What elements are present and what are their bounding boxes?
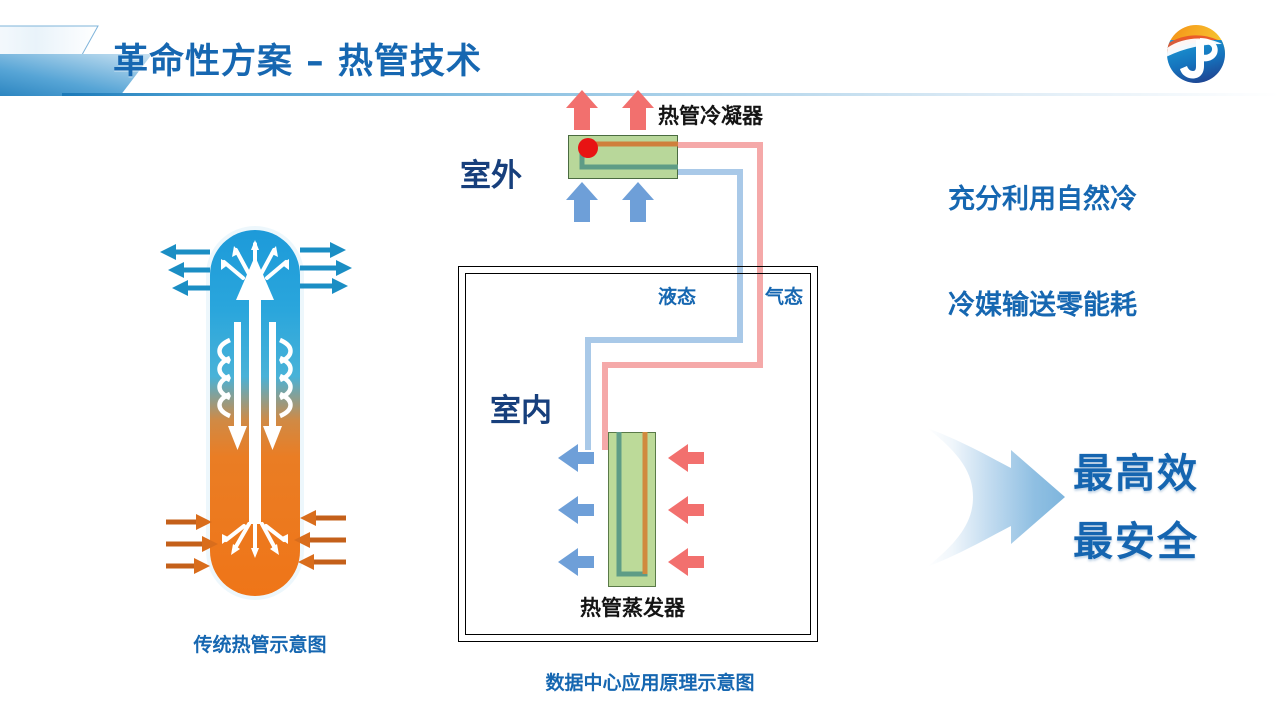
page-title: 革命性方案 – 热管技术 (113, 33, 482, 84)
liquid-phase-label: 液态 (658, 282, 696, 309)
evaporator-label: 热管蒸发器 (545, 592, 720, 622)
outdoor-label: 室外 (460, 150, 522, 195)
indoor-label: 室内 (490, 385, 552, 430)
benefit-text-2: 冷媒输送零能耗 (948, 283, 1137, 322)
center-diagram-caption: 数据中心应用原理示意图 (440, 668, 860, 695)
left-diagram-caption: 传统热管示意图 (110, 630, 410, 657)
room-airflow-arrows (550, 440, 730, 590)
company-logo-icon (1160, 18, 1232, 90)
traditional-heat-pipe-diagram (150, 222, 360, 604)
conclusion-text-2: 最安全 (1073, 509, 1199, 567)
slide-root: 革命性方案 – 热管技术 (0, 0, 1280, 720)
benefit-text-1: 充分利用自然冷 (948, 177, 1137, 216)
condenser-marker-dot (578, 138, 598, 158)
condenser-cool-air-in-arrows (564, 182, 674, 222)
center-diagram: 热管冷凝器 室外 液态 气态 室内 (440, 90, 860, 660)
big-right-arrow-icon (925, 420, 1070, 575)
conclusion-text-1: 最高效 (1073, 441, 1199, 499)
gas-phase-label: 气态 (765, 282, 803, 309)
condenser-label: 热管冷凝器 (658, 100, 763, 130)
